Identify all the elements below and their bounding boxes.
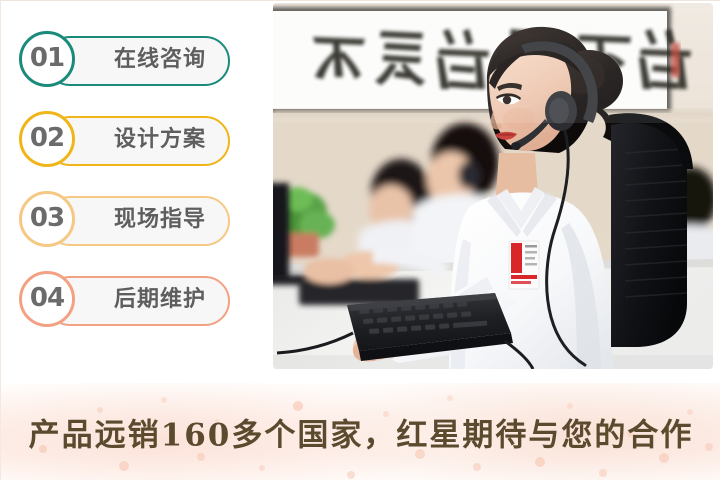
- petal-dot: [259, 465, 265, 471]
- service-step-number-badge-2: 02: [19, 111, 75, 167]
- service-step-item[interactable]: 设计方案 02: [1, 111, 267, 173]
- service-step-number: 02: [30, 125, 64, 153]
- call-center-photo: [273, 3, 713, 369]
- marketing-banner: 产品远销160多个国家，红星期待与您的合作: [1, 383, 720, 480]
- petal-dot: [599, 469, 607, 477]
- employee-badge: [509, 241, 539, 289]
- service-step-item[interactable]: 现场指导 03: [1, 191, 267, 253]
- service-steps-list: 在线咨询 01 设计方案 02 现场指导 03 后期维护: [1, 1, 267, 383]
- petal-dot: [473, 463, 481, 471]
- petal-dot: [447, 395, 453, 401]
- petal-dot: [567, 403, 573, 409]
- service-step-label: 在线咨询: [114, 49, 206, 73]
- service-step-label: 后期维护: [114, 289, 206, 313]
- banner-headline: 产品远销160多个国家，红星期待与您的合作: [1, 410, 720, 455]
- service-step-label: 现场指导: [114, 209, 206, 233]
- promo-graphic: 在线咨询 01 设计方案 02 现场指导 03 后期维护: [0, 0, 720, 480]
- service-step-number: 04: [30, 285, 64, 313]
- office-chair: [609, 113, 693, 347]
- petal-dot: [535, 457, 545, 467]
- petal-dot: [347, 471, 355, 479]
- service-step-number-badge-3: 03: [19, 191, 75, 247]
- service-step-item[interactable]: 在线咨询 01: [1, 31, 267, 93]
- service-step-item[interactable]: 后期维护 04: [1, 271, 267, 333]
- service-step-number: 03: [30, 205, 64, 233]
- petal-dot: [659, 453, 669, 463]
- service-step-label: 设计方案: [114, 129, 206, 153]
- service-step-number: 01: [30, 45, 64, 73]
- service-step-number-badge-1: 01: [19, 31, 75, 87]
- petal-dot: [161, 397, 167, 403]
- photo-illustration: [273, 3, 713, 369]
- petal-dot: [119, 461, 129, 471]
- service-step-number-badge-4: 04: [19, 271, 75, 327]
